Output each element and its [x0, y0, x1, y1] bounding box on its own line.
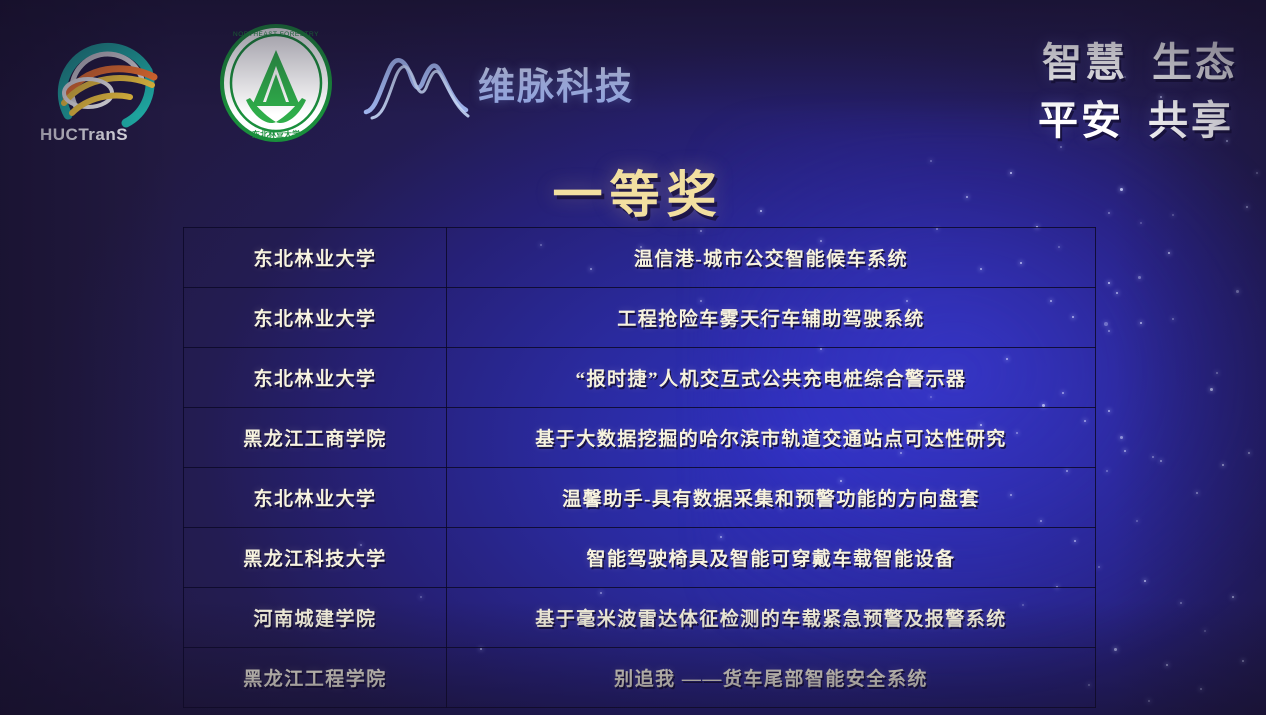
weimai-technology-label: 维脉科技: [478, 56, 634, 110]
cell-project: “报时捷”人机交互式公共充电桩综合警示器: [447, 348, 1096, 408]
weimai-wave-icon: [362, 40, 472, 126]
northeast-forestry-university-seal: 东北林业大学 NORTHEAST FORESTRY: [216, 22, 336, 144]
slogan-word-gongxiang: 共享: [1148, 99, 1234, 143]
logo-strip: HUCTranS 东北林业大学 NORTHEAST FORESTRY 维脉科: [30, 18, 634, 148]
cell-school: 东北林业大学: [184, 348, 447, 408]
slogan-block: 智慧生态 平安共享: [858, 34, 1238, 150]
cell-school: 东北林业大学: [184, 288, 447, 348]
cell-school: 黑龙江工商学院: [184, 408, 447, 468]
table-row: 东北林业大学工程抢险车雾天行车辅助驾驶系统: [184, 288, 1096, 348]
cell-project: 温馨助手-具有数据采集和预警功能的方向盘套: [447, 468, 1096, 528]
cell-school: 东北林业大学: [184, 228, 447, 288]
cell-school: 东北林业大学: [184, 468, 447, 528]
table-row: 河南城建学院基于毫米波雷达体征检测的车载紧急预警及报警系统: [184, 588, 1096, 648]
huct-trans-label: HUCTranS: [40, 125, 128, 145]
cell-project: 别追我 ——货车尾部智能安全系统: [447, 648, 1096, 708]
slogan-word-shengtai: 生态: [1152, 41, 1238, 85]
slogan-line-2: 平安共享: [858, 92, 1238, 150]
slogan-line-1: 智慧生态: [858, 34, 1238, 92]
table-row: 东北林业大学温信港-城市公交智能候车系统: [184, 228, 1096, 288]
table-row: 黑龙江科技大学智能驾驶椅具及智能可穿戴车载智能设备: [184, 528, 1096, 588]
cell-project: 工程抢险车雾天行车辅助驾驶系统: [447, 288, 1096, 348]
table-row: 东北林业大学温馨助手-具有数据采集和预警功能的方向盘套: [184, 468, 1096, 528]
cell-school: 河南城建学院: [184, 588, 447, 648]
svg-text:NORTHEAST FORESTRY: NORTHEAST FORESTRY: [233, 31, 319, 38]
award-winners-table: 东北林业大学温信港-城市公交智能候车系统东北林业大学工程抢险车雾天行车辅助驾驶系…: [183, 227, 1096, 708]
slogan-word-pingan: 平安: [1038, 99, 1124, 143]
award-title: 一等奖: [0, 155, 1266, 227]
svg-text:东北林业大学: 东北林业大学: [252, 129, 300, 139]
cell-project: 基于毫米波雷达体征检测的车载紧急预警及报警系统: [447, 588, 1096, 648]
table-row: 东北林业大学“报时捷”人机交互式公共充电桩综合警示器: [184, 348, 1096, 408]
nefu-seal-mark: 东北林业大学 NORTHEAST FORESTRY: [216, 22, 336, 144]
cell-project: 智能驾驶椅具及智能可穿戴车载智能设备: [447, 528, 1096, 588]
slide-canvas: HUCTranS 东北林业大学 NORTHEAST FORESTRY 维脉科: [0, 0, 1266, 715]
huct-trans-logo: HUCTranS: [30, 19, 190, 147]
cell-project: 基于大数据挖掘的哈尔滨市轨道交通站点可达性研究: [447, 408, 1096, 468]
cell-project: 温信港-城市公交智能候车系统: [447, 228, 1096, 288]
weimai-technology-logo: 维脉科技: [362, 40, 634, 126]
table-row: 黑龙江工程学院别追我 ——货车尾部智能安全系统: [184, 648, 1096, 708]
slogan-word-zhihui: 智慧: [1042, 41, 1128, 85]
cell-school: 黑龙江工程学院: [184, 648, 447, 708]
cell-school: 黑龙江科技大学: [184, 528, 447, 588]
table-row: 黑龙江工商学院基于大数据挖掘的哈尔滨市轨道交通站点可达性研究: [184, 408, 1096, 468]
